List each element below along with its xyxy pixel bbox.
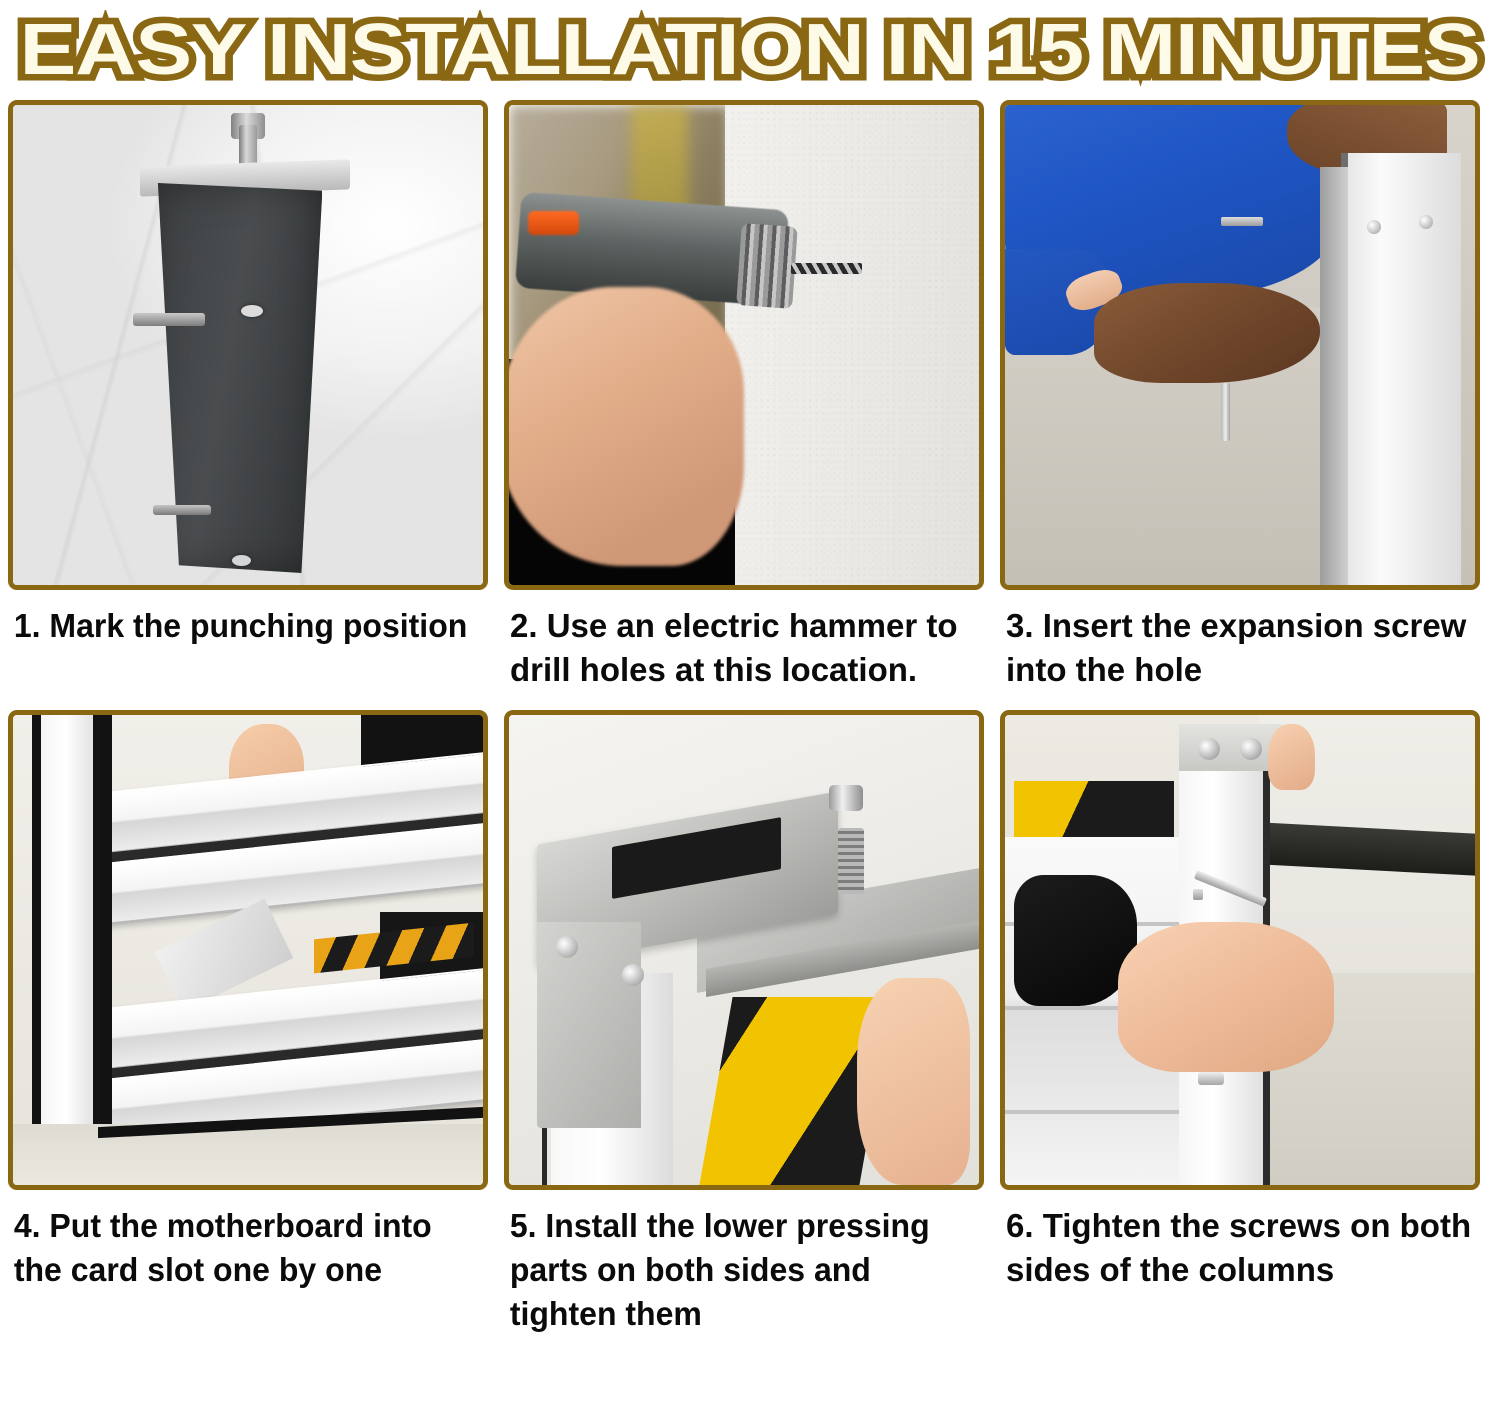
phillips-screw-icon-1 [1198,738,1220,760]
step-photo-frame-3 [1000,100,1480,590]
phillips-screw-icon-1 [556,936,578,958]
column-top-cap [1179,724,1282,771]
hazard-stripe [1014,781,1174,837]
lower-bolt-icon [1198,1072,1224,1085]
step-photo-frame-6 [1000,710,1480,1190]
step-photo-frame-4 [8,710,488,1190]
step-caption-3: 3. Insert the expansion screw into the h… [1000,590,1480,692]
card-slot-channel [93,715,112,1129]
textured-wall [725,105,979,585]
step-card-2: 2. Use an electric hammer to drill holes… [504,100,984,692]
step-caption-1: 1. Mark the punching position [8,590,474,648]
allen-key-head [1221,217,1263,226]
step-image-4 [13,715,483,1185]
step-photo-frame-2 [504,100,984,590]
step-image-3 [1005,105,1475,585]
bracket-front-face [537,922,640,1129]
operator-hand [509,287,744,565]
white-column [1341,153,1461,585]
installer-fingers [857,978,970,1185]
step-image-6 [1005,715,1475,1185]
step-card-6: 6. Tighten the screws on both sides of t… [1000,710,1480,1292]
step-image-2 [509,105,979,585]
step-card-3: 3. Insert the expansion screw into the h… [1000,100,1480,692]
step-image-5 [509,715,979,1185]
allen-key-shaft [1221,383,1230,441]
header-banner: EASY INSTALLATION IN 15 MINUTES [0,0,1500,100]
floor-surface [13,1124,483,1185]
step-caption-4: 4. Put the motherboard into the card slo… [8,1190,474,1292]
phillips-screw-icon-2 [622,964,644,986]
step-caption-5: 5. Install the lower pressing parts on b… [504,1190,970,1336]
drill-trigger [528,211,580,235]
column-edge [1320,167,1348,585]
side-bolt-upper [133,313,205,326]
installer-hand [1118,922,1334,1072]
step-image-1 [13,105,483,585]
steps-row-1: 1. Mark the punching position 2. Use an … [8,100,1492,692]
steps-grid: 1. Mark the punching position 2. Use an … [0,100,1500,1335]
page-title: EASY INSTALLATION IN 15 MINUTES [20,14,1480,86]
step-card-4: 4. Put the motherboard into the card slo… [8,710,488,1292]
steps-row-2: 4. Put the motherboard into the card slo… [8,710,1492,1336]
drill-bit-icon [791,263,862,274]
supporting-thumb [1268,724,1315,790]
step-card-1: 1. Mark the punching position [8,100,488,648]
worker-arm [1094,283,1320,384]
step-caption-2: 2. Use an electric hammer to drill holes… [504,590,984,692]
marking-hole-upper [241,305,263,317]
expansion-screw-icon-1 [1419,215,1433,229]
threaded-bolt-shaft [838,828,864,894]
panel-seam-3 [1005,1110,1179,1114]
side-bolt-lower [153,505,211,515]
step-photo-frame-5 [504,710,984,1190]
step-caption-6: 6. Tighten the screws on both sides of t… [1000,1190,1480,1292]
marking-hole-lower [232,555,251,566]
left-card-slot-post [32,715,102,1129]
bolt-head-icon [829,785,863,811]
screwdriver-tip [1193,889,1203,900]
step-photo-frame-1 [8,100,488,590]
step-card-5: 5. Install the lower pressing parts on b… [504,710,984,1336]
drill-chuck [737,223,799,308]
